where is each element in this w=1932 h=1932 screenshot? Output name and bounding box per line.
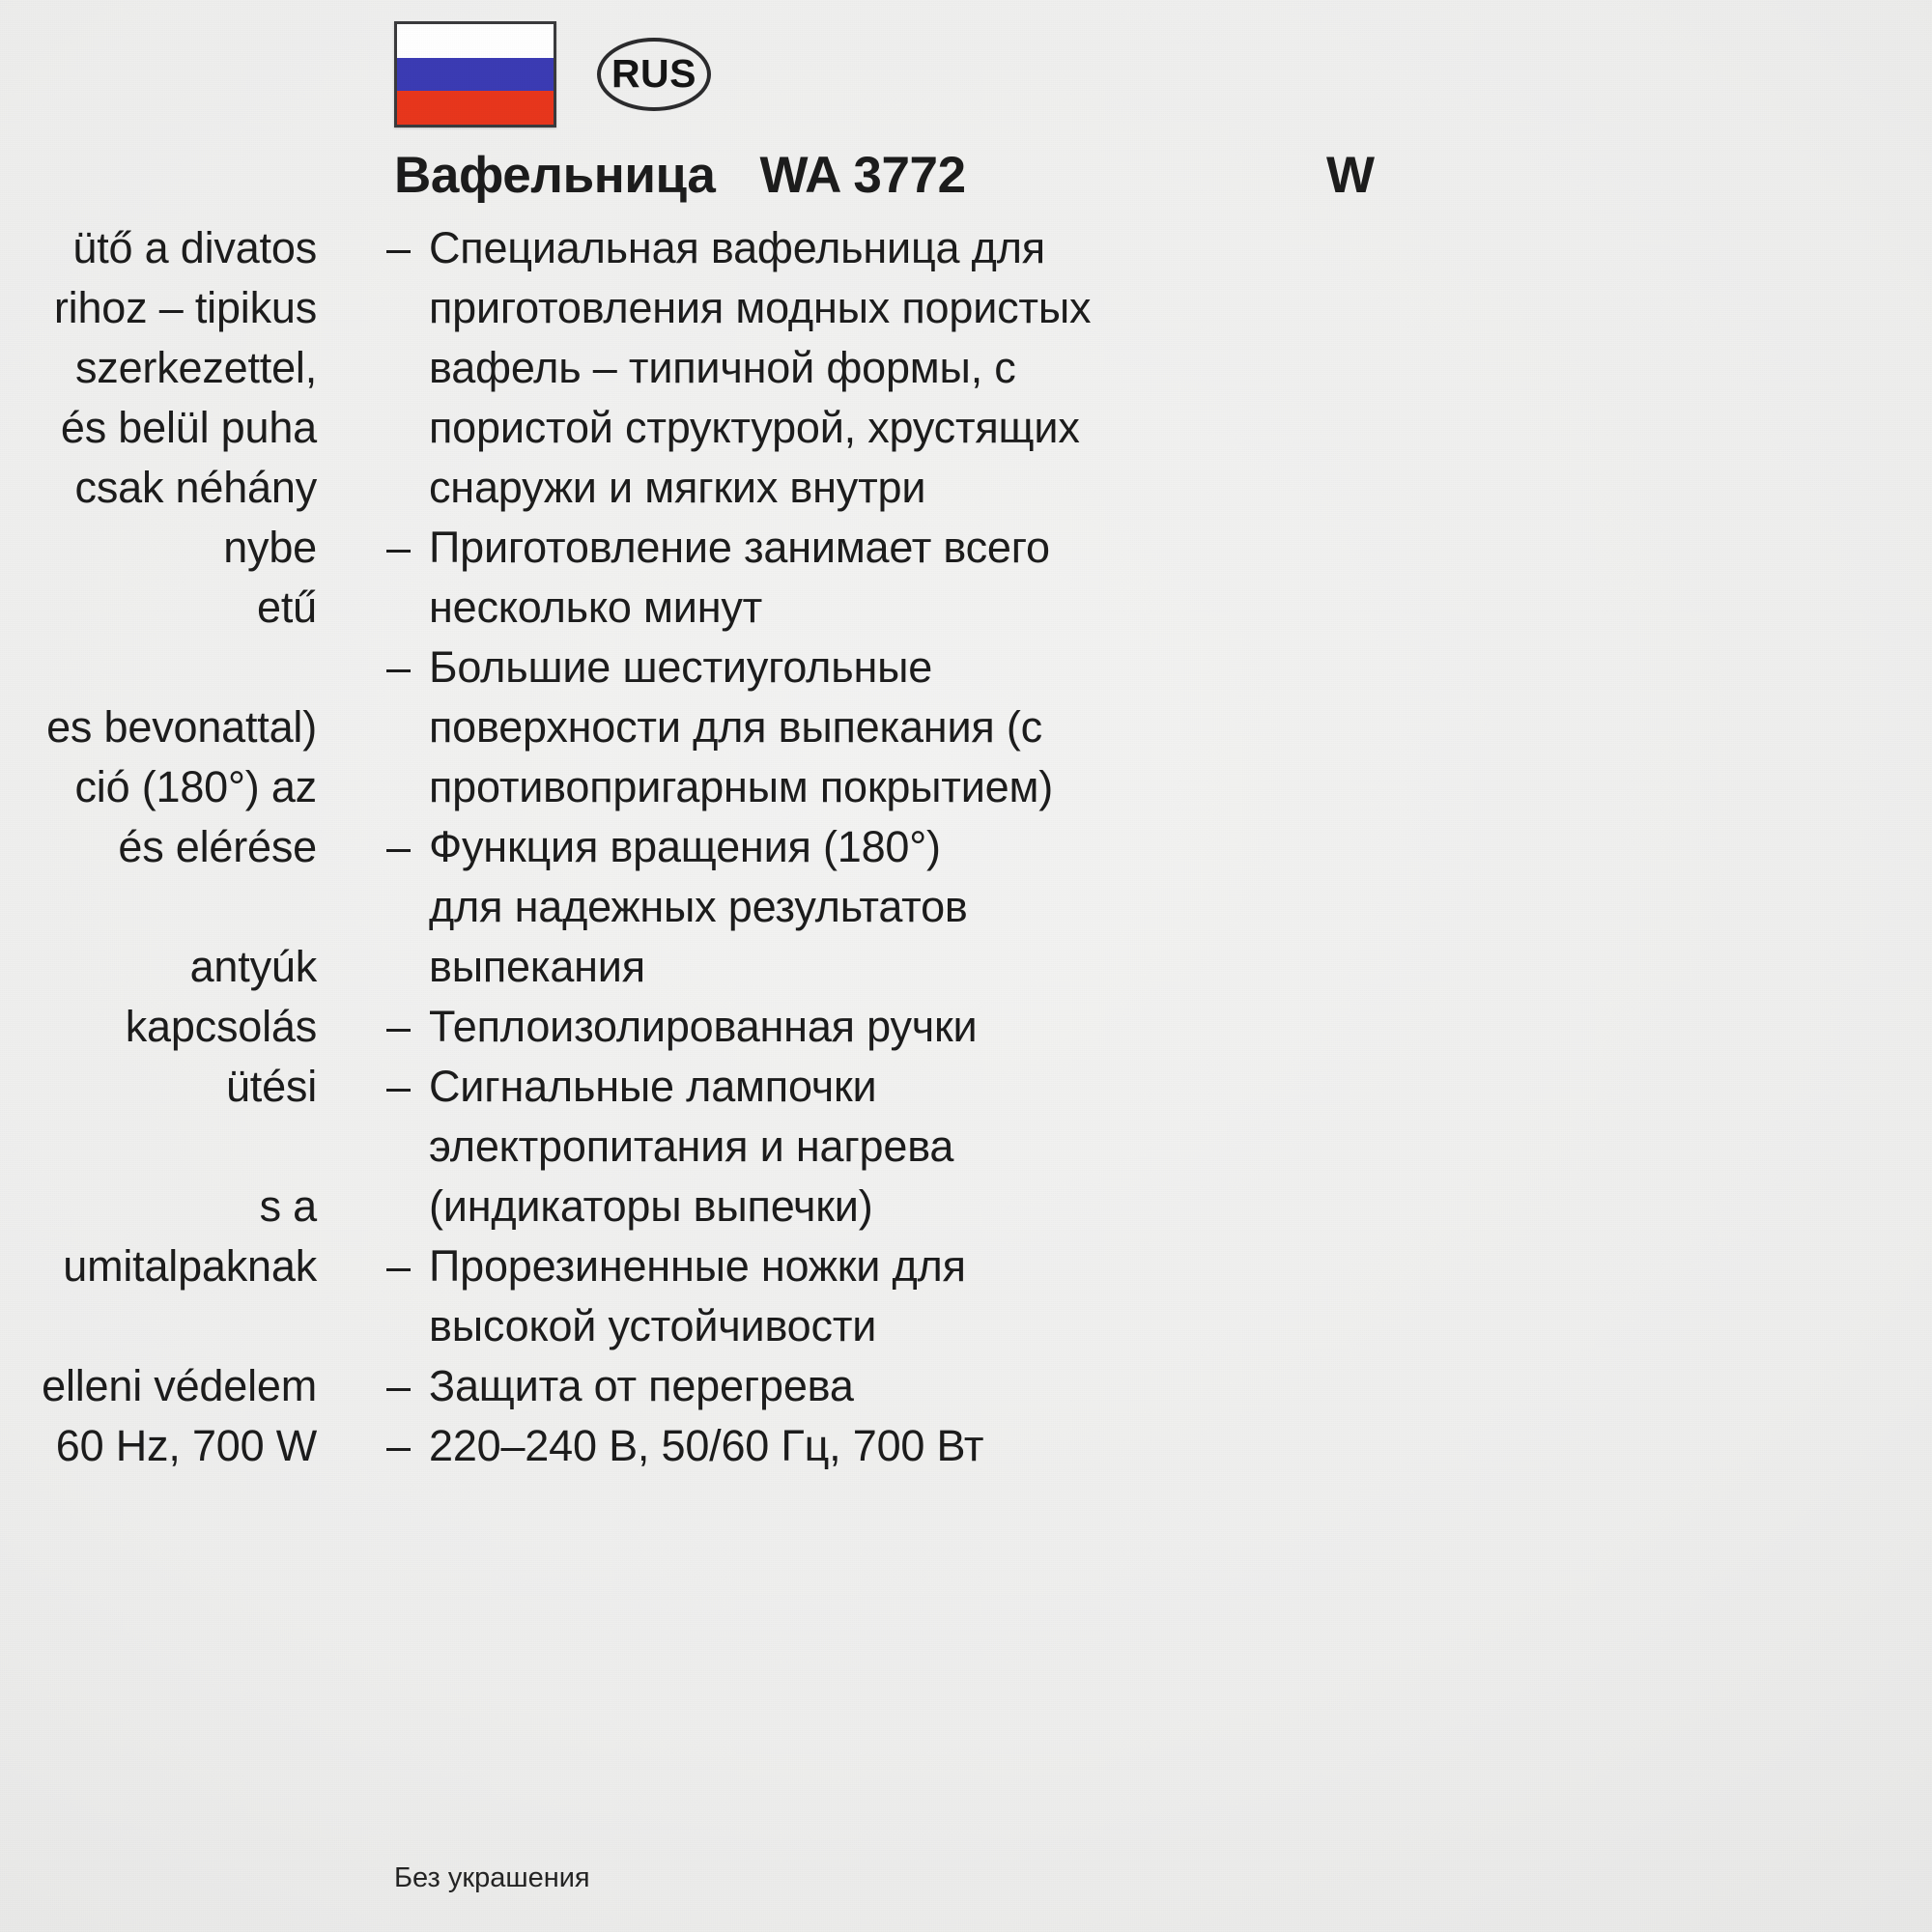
product-name: Вафельница	[394, 147, 715, 204]
hungarian-text-line: csak néhány	[0, 458, 317, 518]
hungarian-text-line: 60 Hz, 700 W	[0, 1416, 317, 1476]
column-arabic: W طائر الوافلكلهامرمشة منالداخل.دقائق ي …	[1319, 0, 1932, 1932]
arabic-text-line: قة)	[1319, 638, 1932, 697]
hungarian-text-line: nybe	[0, 518, 317, 578]
flag-band-red	[397, 91, 554, 125]
hungarian-text-line: kapcsolás	[0, 997, 317, 1057]
feature-bullet-text: Функция вращения (180°) для надежных рез…	[429, 817, 1188, 997]
feature-bullet-text: Сигнальные лампочки электропитания и наг…	[429, 1057, 1188, 1236]
hungarian-text-line: umitalpaknak	[0, 1236, 317, 1296]
feature-bullet-text: 220–240 В, 50/60 Гц, 700 Вт	[429, 1416, 1188, 1476]
spacer-line	[0, 638, 317, 697]
hungarian-text-line: és belül puha	[0, 398, 317, 458]
column-arabic-body: طائر الوافلكلهامرمشة منالداخل.دقائق ي ال…	[1319, 218, 1932, 1236]
column-hungarian: 3772 ütő a divatosrihoz – tipikusszerkez…	[0, 0, 317, 1932]
feature-bullet: –Теплоизолированная ручки	[386, 997, 1188, 1057]
feature-bullet: –Большие шестиугольные поверхности для в…	[386, 638, 1188, 817]
arabic-text-line: دقائق	[1319, 458, 1932, 518]
feature-bullet: –Приготовление занимает всего несколько …	[386, 518, 1188, 638]
column-russian-feature-list: –Специальная вафельница для приготовлени…	[386, 218, 1188, 1476]
hungarian-text-line: ütési	[0, 1057, 317, 1117]
feature-bullet-text: Большие шестиугольные поверхности для вы…	[429, 638, 1188, 817]
feature-bullet-text: Приготовление занимает всего несколько м…	[429, 518, 1188, 638]
feature-bullet-text: Защита от перегрева	[429, 1356, 1188, 1416]
arabic-text-line: الداخل.	[1319, 398, 1932, 458]
feature-bullet: –Защита от перегрева	[386, 1356, 1188, 1416]
hungarian-text-line: s a	[0, 1177, 317, 1236]
spacer-line	[1319, 817, 1932, 877]
column-arabic-title: W	[1326, 150, 1375, 201]
column-hungarian-body: ütő a divatosrihoz – tipikusszerkezettel…	[0, 218, 317, 1476]
hungarian-text-line: es bevonattal)	[0, 697, 317, 757]
spacer-line	[0, 1296, 317, 1356]
hungarian-text-line: szerkezettel,	[0, 338, 317, 398]
bullet-dash-icon: –	[386, 518, 429, 638]
russia-flag-icon	[394, 21, 556, 128]
column-russian: RUS ВафельницаWA 3772 –Специальная вафел…	[386, 0, 1188, 1932]
hungarian-text-line: és elérése	[0, 817, 317, 877]
feature-bullet: –Прорезиненные ножки для высокой устойчи…	[386, 1236, 1188, 1356]
flag-band-blue	[397, 58, 554, 92]
spacer-line	[0, 877, 317, 937]
spacer-line	[1319, 518, 1932, 578]
column-russian-title: ВафельницаWA 3772	[394, 150, 966, 201]
hungarian-text-line: ció (180°) az	[0, 757, 317, 817]
feature-bullet-text: Прорезиненные ножки для высокой устойчив…	[429, 1236, 1188, 1356]
product-model: WA 3772	[759, 147, 965, 204]
arabic-text-line: طائر الوافل	[1319, 218, 1932, 278]
country-code-label: RUS	[611, 54, 696, 94]
arabic-text-line: رجة)	[1319, 697, 1932, 757]
flag-band-white	[397, 24, 554, 58]
feature-bullet-text: Теплоизолированная ручки	[429, 997, 1188, 1057]
arabic-text-line: هرتز,	[1319, 1177, 1932, 1236]
footnote-text: Без украшения	[394, 1862, 590, 1894]
hungarian-text-line: antyúk	[0, 937, 317, 997]
feature-bullet: –Функция вращения (180°) для надежных ре…	[386, 817, 1188, 997]
spacer-line	[0, 1117, 317, 1177]
spacer-line	[1319, 1057, 1932, 1117]
bullet-dash-icon: –	[386, 817, 429, 997]
bullet-dash-icon: –	[386, 1236, 429, 1356]
hungarian-text-line: ütő a divatos	[0, 218, 317, 278]
arabic-text-line: ي الشكل	[1319, 578, 1932, 638]
bullet-dash-icon: –	[386, 1057, 429, 1236]
hungarian-text-line: elleni védelem	[0, 1356, 317, 1416]
packaging-panel: 3772 ütő a divatosrihoz – tipikusszerkez…	[0, 0, 1932, 1932]
hungarian-text-line: rihoz – tipikus	[0, 278, 317, 338]
arabic-text-line: كلها	[1319, 278, 1932, 338]
feature-bullet-text: Специальная вафельница для приготовления…	[429, 218, 1188, 518]
bullet-dash-icon: –	[386, 1416, 429, 1476]
feature-bullet: –Специальная вафельница для приготовлени…	[386, 218, 1188, 518]
spacer-line	[1319, 937, 1932, 997]
feature-bullet: –220–240 В, 50/60 Гц, 700 Вт	[386, 1416, 1188, 1476]
oval-country-code-icon: RUS	[597, 38, 711, 111]
arabic-text-line: خلال الأقدام	[1319, 997, 1932, 1057]
bullet-dash-icon: –	[386, 218, 429, 518]
language-header-russian: RUS	[394, 21, 711, 128]
bullet-dash-icon: –	[386, 638, 429, 817]
hungarian-text-line: etű	[0, 578, 317, 638]
arabic-text-line: والحر ارة	[1319, 877, 1932, 937]
arabic-text-line: مرمشة من	[1319, 338, 1932, 398]
arabic-text-line: زائدة	[1319, 1117, 1932, 1177]
arabic-text-line: حجم	[1319, 757, 1932, 817]
bullet-dash-icon: –	[386, 1356, 429, 1416]
feature-bullet: –Сигнальные лампочки электропитания и на…	[386, 1057, 1188, 1236]
bullet-dash-icon: –	[386, 997, 429, 1057]
